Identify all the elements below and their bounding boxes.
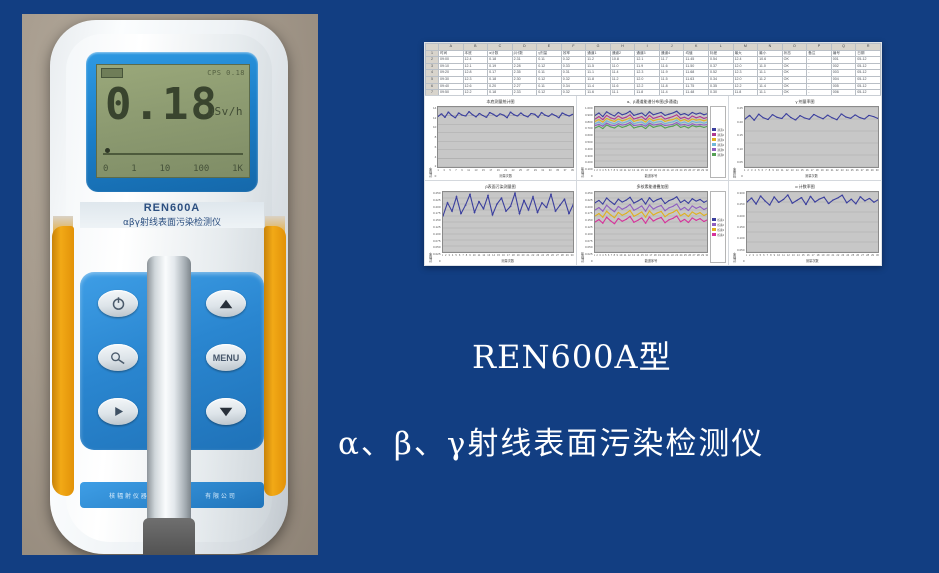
table-cell[interactable]: 11.5 <box>659 76 684 83</box>
chart-y-tick: 0.600 <box>585 133 593 137</box>
table-cell[interactable]: 12.3 <box>635 70 660 77</box>
table-column-header[interactable]: H <box>610 44 635 51</box>
legend-label: 通道4 <box>717 143 724 147</box>
table-corner-cell <box>426 44 439 51</box>
table-cell[interactable]: 0.19 <box>488 63 513 70</box>
device-body: CPS 0.18 0.18 μSv/h 0 1 10 100 1K REN600… <box>50 20 288 554</box>
chart-y-tick: 0.400 <box>585 147 593 151</box>
table-cell[interactable]: 2.30 <box>512 76 537 83</box>
chart-y-tick: 4 <box>433 155 436 159</box>
table-cell[interactable]: 最大 <box>733 50 758 57</box>
lcd-scale-tick: 1K <box>232 164 243 174</box>
table-header-row: ABCDEFGHIJKLMNOPQR <box>426 44 881 51</box>
table-cell[interactable]: 0.32 <box>561 57 586 64</box>
table-cell[interactable]: 10.6 <box>758 57 783 64</box>
chart-title: γ 剂量率图 <box>731 99 879 105</box>
chart-legend-item[interactable]: 通道6 <box>712 153 724 157</box>
table-cell[interactable]: 0.17 <box>488 70 513 77</box>
chart-legend: 核素1核素2核素3核素4 <box>710 191 726 263</box>
table-cell[interactable]: 12.4 <box>733 57 758 64</box>
chart-y-tick: 6 <box>433 145 436 149</box>
chart-plot-wrapper: 1234567891011121314151617181920212223242… <box>594 191 709 263</box>
up-button[interactable] <box>206 290 246 317</box>
table-cell[interactable]: 备注 <box>807 50 832 57</box>
chart-y-tick: 0.100 <box>433 232 441 236</box>
table-cell[interactable]: β计数 <box>512 50 537 57</box>
chart-y-tick: 1.000 <box>585 106 593 110</box>
chart-panel: γ 剂量率图剂量率0.250.200.150.100.0501234567891… <box>729 96 881 181</box>
table-cell[interactable]: 004 <box>831 76 856 83</box>
chart-legend-item[interactable]: 核素1 <box>712 218 724 222</box>
chart-y-tick: 0.150 <box>585 218 593 222</box>
chart-y-tick: 0.025 <box>433 252 441 256</box>
table-column-header[interactable]: A <box>439 44 464 51</box>
chart-legend-item[interactable]: 通道5 <box>712 148 724 152</box>
chart-plot-wrapper: 1234567891011121314151617181920212223242… <box>746 191 879 263</box>
device-model-label: REN600A <box>80 202 264 214</box>
chart-y-tick: 0 <box>433 259 441 263</box>
chart-legend-item[interactable]: 核素3 <box>712 228 724 232</box>
table-cell[interactable]: γ剂量 <box>537 50 562 57</box>
table-row[interactable]: 309:1012.10.192.280.120.3311.511.011.911… <box>426 63 881 70</box>
table-cell[interactable]: 09:40 <box>439 83 464 90</box>
table-column-header[interactable]: G <box>586 44 611 51</box>
table-column-header[interactable]: E <box>537 44 562 51</box>
legend-label: 核素1 <box>717 218 724 222</box>
device-handle-foot <box>143 518 195 555</box>
chart-x-axis-label: 测量次数 <box>746 257 879 263</box>
chart-y-tick: 0.250 <box>737 202 745 206</box>
table-cell[interactable]: 11.6 <box>659 63 684 70</box>
chart-y-tick: 0.300 <box>585 154 593 158</box>
table-cell[interactable]: 003 <box>831 70 856 77</box>
table-cell[interactable]: 001 <box>831 57 856 64</box>
chart-y-tick: 0.175 <box>433 211 441 215</box>
chart-y-tick: 0.150 <box>433 218 441 222</box>
table-cell[interactable]: 12.3 <box>733 70 758 77</box>
table-column-header[interactable]: R <box>856 44 881 51</box>
table-cell[interactable]: 09:00 <box>439 57 464 64</box>
table-column-header[interactable]: F <box>561 44 586 51</box>
down-button[interactable] <box>206 398 246 425</box>
legend-color-swatch <box>712 218 716 221</box>
table-row-header[interactable]: 6 <box>426 83 439 90</box>
table-cell[interactable]: 12.8 <box>463 70 488 77</box>
chart-y-tick: 0.100 <box>585 167 593 171</box>
table-cell[interactable]: 11.50 <box>684 63 709 70</box>
chart-y-tick: 0.250 <box>433 191 441 195</box>
chart-panel: α 计数率图计数率0.3000.2500.2000.1500.1000.0500… <box>729 181 881 266</box>
device-footer-mark: 核 辐 射 仪 器 <box>109 491 147 500</box>
table-cell[interactable]: 11.1 <box>586 70 611 77</box>
table-row-header[interactable]: 5 <box>426 76 439 83</box>
search-button[interactable] <box>98 344 138 371</box>
table-cell[interactable]: 0.11 <box>537 83 562 90</box>
chart-y-tick: 0.500 <box>585 140 593 144</box>
table-cell[interactable]: 0.34 <box>709 76 734 83</box>
table-cell[interactable]: 0.11 <box>537 57 562 64</box>
lcd-scale-tick: 0 <box>103 164 108 174</box>
table-cell[interactable]: 0.33 <box>561 63 586 70</box>
chart-plot-area <box>594 106 709 168</box>
chart-plot-area <box>437 106 574 168</box>
chart-y-tick: 0.050 <box>433 245 441 249</box>
table-cell[interactable]: 11.8 <box>586 76 611 83</box>
chart-y-tick: 0.20 <box>737 120 743 124</box>
legend-label: 通道1 <box>717 128 724 132</box>
chart-svg <box>443 192 573 252</box>
table-cell[interactable]: 05-12 <box>856 70 881 77</box>
table-cell[interactable]: 均值 <box>684 50 709 57</box>
table-cell[interactable]: 0.11 <box>537 70 562 77</box>
chart-body: 计数值1.0000.9000.8000.7000.6000.5000.4000.… <box>579 106 726 178</box>
chart-y-tick: 0 <box>433 174 436 178</box>
chart-y-tick: 0.050 <box>585 245 593 249</box>
chart-y-tick: 0.225 <box>585 198 593 202</box>
chart-x-axis-label: 测量次数 <box>437 172 574 178</box>
spreadsheet-area: ABCDEFGHIJKLMNOPQR 1时间本底α计数β计数γ剂量效率通道1通道… <box>425 43 881 96</box>
power-button[interactable] <box>98 290 138 317</box>
chart-y-ticks: 0.2500.2250.2000.1750.1500.1250.1000.075… <box>433 191 442 263</box>
legend-color-swatch <box>712 148 716 151</box>
legend-label: 核素4 <box>717 233 724 237</box>
lcd-status-text: CPS 0.18 <box>207 69 245 77</box>
chart-y-tick: 0.700 <box>585 126 593 130</box>
table-cell[interactable]: 11.4 <box>610 70 635 77</box>
chart-y-tick: 0.200 <box>737 214 745 218</box>
table-cell[interactable]: OK <box>782 63 807 70</box>
table-column-header[interactable]: Q <box>831 44 856 51</box>
chart-y-tick: 0.900 <box>585 113 593 117</box>
chart-y-tick: 0.250 <box>585 191 593 195</box>
table-cell[interactable]: 通道1 <box>586 50 611 57</box>
legend-label: 核素3 <box>717 228 724 232</box>
chart-y-tick: 0.100 <box>585 232 593 236</box>
table-cell[interactable]: - <box>807 70 832 77</box>
table-cell[interactable]: 12.1 <box>635 57 660 64</box>
chart-body: 计数率0.2500.2250.2000.1750.1500.1250.1000.… <box>427 191 574 263</box>
software-screenshot-panel: ABCDEFGHIJKLMNOPQR 1时间本底α计数β计数γ剂量效率通道1通道… <box>424 42 882 266</box>
chart-legend-item[interactable]: 通道4 <box>712 143 724 147</box>
chart-plot-wrapper: 1234567891011121314151617181920212223242… <box>744 106 879 178</box>
chart-plot-wrapper: 13579111315171921232527293133353739测量次数 <box>437 106 574 178</box>
chart-y-ticks: 1.0000.9000.8000.7000.6000.5000.4000.300… <box>585 106 594 178</box>
table-cell[interactable]: - <box>807 63 832 70</box>
table-column-header[interactable]: P <box>807 44 832 51</box>
table-column-header[interactable]: N <box>758 44 783 51</box>
table-cell[interactable]: 编号 <box>831 50 856 57</box>
chart-y-tick: 0.125 <box>585 225 593 229</box>
table-cell[interactable]: 0.34 <box>561 83 586 90</box>
table-cell[interactable]: 通道4 <box>659 50 684 57</box>
table-cell[interactable]: 11.0 <box>758 63 783 70</box>
lcd-display: CPS 0.18 0.18 μSv/h 0 1 10 100 1K <box>96 64 250 178</box>
play-button[interactable] <box>98 398 138 425</box>
table-cell[interactable]: 11.45 <box>684 57 709 64</box>
table-cell[interactable]: 0.37 <box>709 63 734 70</box>
lcd-scale-tick: 1 <box>131 164 136 174</box>
table-cell[interactable]: 11.0 <box>610 63 635 70</box>
chart-y-axis-label: 计数值 <box>579 106 585 178</box>
table-cell[interactable]: 11.6 <box>610 83 635 90</box>
chart-svg <box>595 192 708 252</box>
table-cell[interactable]: 0.52 <box>709 70 734 77</box>
chart-plot-area <box>744 106 879 168</box>
table-column-header[interactable]: O <box>782 44 807 51</box>
table-cell[interactable]: 11.1 <box>758 70 783 77</box>
table-column-header[interactable]: M <box>733 44 758 51</box>
legend-label: 通道2 <box>717 133 724 137</box>
table-column-header[interactable]: I <box>635 44 660 51</box>
table-cell[interactable]: 12.0 <box>733 76 758 83</box>
table-cell[interactable]: 11.7 <box>659 57 684 64</box>
table-cell[interactable]: 0.12 <box>537 76 562 83</box>
lcd-scale-tick: 100 <box>193 164 209 174</box>
table-cell[interactable]: 12.4 <box>463 57 488 64</box>
chart-y-tick: 0 <box>737 259 745 263</box>
chart-title: 多核素能谱叠加图 <box>579 184 726 190</box>
chart-body: 计数率1412108642013579111315171921232527293… <box>427 106 574 178</box>
table-cell[interactable]: 0.12 <box>537 63 562 70</box>
table-cell[interactable]: OK <box>782 83 807 90</box>
chart-body: 计数值0.2500.2250.2000.1750.1500.1250.1000.… <box>579 191 726 263</box>
chart-y-tick: 0.150 <box>737 225 745 229</box>
table-cell[interactable]: - <box>807 57 832 64</box>
table-column-header[interactable]: L <box>709 44 734 51</box>
table-cell[interactable]: OK <box>782 57 807 64</box>
table-row-header[interactable]: 4 <box>426 70 439 77</box>
table-cell[interactable]: 11.2 <box>586 57 611 64</box>
lcd-scale: 0 1 10 100 1K <box>103 164 243 174</box>
table-cell[interactable]: 通道2 <box>610 50 635 57</box>
power-icon <box>111 296 126 311</box>
table-row[interactable]: 1时间本底α计数β计数γ剂量效率通道1通道2通道3通道4均值标差最大最小状态备注… <box>426 50 881 57</box>
table-cell[interactable]: 12.3 <box>463 76 488 83</box>
table-row[interactable]: 409:2012.80.172.350.110.3111.111.412.311… <box>426 70 881 77</box>
chart-plot-area <box>442 191 574 253</box>
lcd-reading-value: 0.18 <box>105 83 219 127</box>
play-icon <box>112 405 125 418</box>
table-cell[interactable]: 11.63 <box>684 76 709 83</box>
triangle-up-icon <box>219 298 233 310</box>
legend-color-swatch <box>712 128 716 131</box>
table-cell[interactable]: 11.9 <box>635 63 660 70</box>
table-cell[interactable]: 05-12 <box>856 57 881 64</box>
chart-panel: α、β通道能谱分布图(多通道)计数值1.0000.9000.8000.7000.… <box>577 96 729 181</box>
chart-plot-area <box>746 191 879 253</box>
legend-color-swatch <box>712 153 716 156</box>
table-row-header[interactable]: 3 <box>426 63 439 70</box>
table-cell[interactable]: 005 <box>831 83 856 90</box>
chart-panel: β表面污染测量图计数率0.2500.2250.2000.1750.1500.12… <box>425 181 577 266</box>
table-cell[interactable]: - <box>807 76 832 83</box>
lcd-bar-axis <box>103 153 243 155</box>
chart-title: α 计数率图 <box>731 184 879 190</box>
table-cell[interactable]: 0.31 <box>561 70 586 77</box>
chart-body: 计数率0.3000.2500.2000.1500.1000.0500123456… <box>731 191 879 263</box>
device-label: REN600A αβγ射线表面污染检测仪 <box>80 202 264 228</box>
table-cell[interactable]: 002 <box>831 63 856 70</box>
table-column-header[interactable]: C <box>488 44 513 51</box>
chart-y-tick: 0.300 <box>737 191 745 195</box>
table-cell[interactable]: 时间 <box>439 50 464 57</box>
table-cell[interactable]: 11.2 <box>610 76 635 83</box>
chart-panel: 多核素能谱叠加图计数值0.2500.2250.2000.1750.1500.12… <box>577 181 729 266</box>
table-row-header[interactable]: 1 <box>426 50 439 57</box>
table-cell[interactable]: 11.8 <box>659 83 684 90</box>
device-description-label: αβγ射线表面污染检测仪 <box>80 215 264 228</box>
table-cell[interactable]: 05-12 <box>856 76 881 83</box>
triangle-down-icon <box>219 406 233 418</box>
table-cell[interactable]: α计数 <box>488 50 513 57</box>
table-cell[interactable]: OK <box>782 76 807 83</box>
table-cell[interactable]: 2.35 <box>512 70 537 77</box>
table-cell[interactable]: 0.35 <box>709 83 734 90</box>
legend-color-swatch <box>712 133 716 136</box>
chart-y-tick: 10 <box>433 125 436 129</box>
table-cell[interactable]: 通道3 <box>635 50 660 57</box>
chart-legend-item[interactable]: 通道3 <box>712 138 724 142</box>
table-cell[interactable]: 11.2 <box>758 76 783 83</box>
chart-legend-item[interactable]: 核素2 <box>712 223 724 227</box>
chart-y-tick: 0.100 <box>737 236 745 240</box>
legend-color-swatch <box>712 228 716 231</box>
table-row[interactable]: 509:3012.30.182.300.120.3211.811.212.011… <box>426 76 881 83</box>
table-cell[interactable]: 12.0 <box>733 63 758 70</box>
chart-plot-wrapper: 1234567891011121314151617181920212223242… <box>594 106 709 178</box>
chart-y-tick: 0.025 <box>585 252 593 256</box>
table-cell[interactable]: 12.0 <box>635 76 660 83</box>
chart-y-axis-label: 计数率 <box>427 191 433 263</box>
chart-svg <box>438 107 573 167</box>
chart-y-axis-label: 计数率 <box>731 191 737 263</box>
chart-y-axis-label: 剂量率 <box>731 106 737 178</box>
chart-y-tick: 12 <box>433 116 436 120</box>
table-column-header[interactable]: J <box>659 44 684 51</box>
chart-y-tick: 0.200 <box>433 205 441 209</box>
chart-y-tick: 14 <box>433 106 436 110</box>
table-cell[interactable]: 0.18 <box>488 76 513 83</box>
chart-y-ticks: 0.250.200.150.100.050 <box>737 106 744 178</box>
chart-body: 剂量率0.250.200.150.100.0501234567891011121… <box>731 106 879 178</box>
caption-description: α、β、γ射线表面污染检测仪 <box>338 418 764 463</box>
chart-svg <box>745 107 878 167</box>
table-cell[interactable]: 效率 <box>561 50 586 57</box>
chart-svg <box>747 192 878 252</box>
chart-y-tick: 0.075 <box>433 239 441 243</box>
table-column-header[interactable]: D <box>512 44 537 51</box>
chart-legend-item[interactable]: 通道1 <box>712 128 724 132</box>
menu-button[interactable]: MENU <box>206 344 246 371</box>
table-cell[interactable]: 12.1 <box>463 63 488 70</box>
table-cell[interactable]: 11.5 <box>586 63 611 70</box>
chart-y-tick: 8 <box>433 135 436 139</box>
chart-y-tick: 0.800 <box>585 120 593 124</box>
chart-y-axis-label: 计数率 <box>427 106 433 178</box>
table-cell[interactable]: 12.2 <box>635 83 660 90</box>
legend-color-swatch <box>712 143 716 146</box>
table-cell[interactable]: 标差 <box>709 50 734 57</box>
table-cell[interactable]: 2.31 <box>512 57 537 64</box>
chart-title: α、β通道能谱分布图(多通道) <box>579 99 726 105</box>
legend-color-swatch <box>712 223 716 226</box>
legend-label: 通道3 <box>717 138 724 142</box>
table-cell[interactable]: 本底 <box>463 50 488 57</box>
table-cell[interactable]: 0.32 <box>561 76 586 83</box>
table-column-header[interactable]: B <box>463 44 488 51</box>
chart-y-tick: 0 <box>585 174 593 178</box>
table-row[interactable]: 209:0012.40.182.310.110.3211.210.812.111… <box>426 57 881 64</box>
chart-y-tick: 0 <box>737 174 743 178</box>
chart-legend-item[interactable]: 核素4 <box>712 233 724 237</box>
table-cell[interactable]: 11.4 <box>586 83 611 90</box>
table-row[interactable]: 609:4012.60.202.270.110.3411.411.612.211… <box>426 83 881 90</box>
chart-legend-item[interactable]: 通道2 <box>712 133 724 137</box>
table-cell[interactable]: 05-12 <box>856 63 881 70</box>
table-cell[interactable]: 11.68 <box>684 70 709 77</box>
chart-plot-wrapper: 1234567891011121314151617181920212223242… <box>442 191 574 263</box>
chart-y-tick: 0.050 <box>737 248 745 252</box>
table-cell[interactable]: 0.54 <box>709 57 734 64</box>
caption-model-title: REN600A型 <box>472 332 672 378</box>
table-cell[interactable]: 12.6 <box>463 83 488 90</box>
chart-y-tick: 0.200 <box>585 160 593 164</box>
chart-y-tick: 0.075 <box>585 239 593 243</box>
table-cell[interactable]: 12.2 <box>733 83 758 90</box>
chart-y-tick: 0 <box>585 259 593 263</box>
chart-panel: 本底测量统计图计数率141210864201357911131517192123… <box>425 96 577 181</box>
table-cell[interactable]: 11.75 <box>684 83 709 90</box>
table-cell[interactable]: 10.8 <box>610 57 635 64</box>
product-photo: CPS 0.18 0.18 μSv/h 0 1 10 100 1K REN600… <box>22 14 318 555</box>
chart-x-axis-label: 能道序号 <box>594 257 709 263</box>
chart-y-axis-label: 计数值 <box>579 191 585 263</box>
legend-color-swatch <box>712 233 716 236</box>
table-cell[interactable]: OK <box>782 70 807 77</box>
table-cell[interactable]: 09:20 <box>439 70 464 77</box>
table-cell[interactable]: 2.28 <box>512 63 537 70</box>
screen-bezel: CPS 0.18 0.18 μSv/h 0 1 10 100 1K <box>86 52 258 192</box>
table-cell[interactable]: 09:30 <box>439 76 464 83</box>
table-row-header[interactable]: 2 <box>426 57 439 64</box>
table-column-header[interactable]: K <box>684 44 709 51</box>
chart-title: 本底测量统计图 <box>427 99 574 105</box>
chart-y-ticks: 0.2500.2250.2000.1750.1500.1250.1000.075… <box>585 191 594 263</box>
table-cell[interactable]: 最小 <box>758 50 783 57</box>
table-cell[interactable]: 11.4 <box>758 83 783 90</box>
chart-x-axis-label: 能道序号 <box>594 172 709 178</box>
battery-icon <box>101 68 123 78</box>
table-cell[interactable]: 日期 <box>856 50 881 57</box>
table-cell[interactable]: 09:10 <box>439 63 464 70</box>
chart-y-tick: 0.175 <box>585 211 593 215</box>
table-cell[interactable]: 0.20 <box>488 83 513 90</box>
menu-text-icon: MENU <box>213 353 240 363</box>
lcd-scale-tick: 10 <box>159 164 170 174</box>
table-cell[interactable]: 2.27 <box>512 83 537 90</box>
chart-y-tick: 0.225 <box>433 198 441 202</box>
table-cell[interactable]: 11.9 <box>659 70 684 77</box>
table-cell[interactable]: 05-12 <box>856 83 881 90</box>
legend-color-swatch <box>712 138 716 141</box>
table-cell[interactable]: 状态 <box>782 50 807 57</box>
table-cell[interactable]: - <box>807 83 832 90</box>
chart-svg <box>595 107 708 167</box>
table-cell[interactable]: 0.18 <box>488 57 513 64</box>
chart-legend: 通道1通道2通道3通道4通道5通道6 <box>710 106 726 178</box>
data-table: ABCDEFGHIJKLMNOPQR 1时间本底α计数β计数γ剂量效率通道1通道… <box>425 43 881 96</box>
legend-label: 核素2 <box>717 223 724 227</box>
